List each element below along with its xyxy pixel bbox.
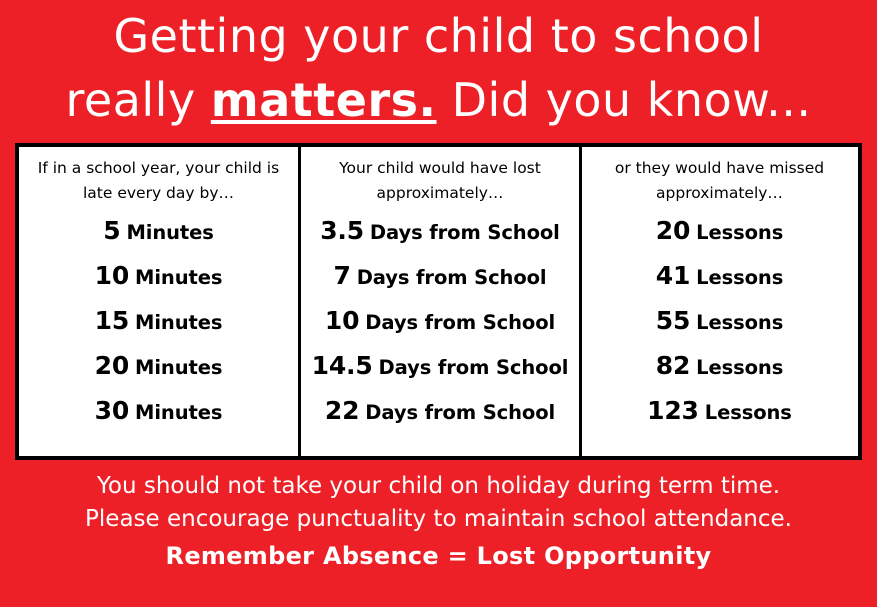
table-row: 3.5 Days from School — [301, 216, 579, 261]
cell-days-value: 10 — [325, 306, 359, 336]
attendance-table: If in a school year, your child is late … — [15, 143, 862, 460]
cell-minutes-unit: Minutes — [135, 263, 222, 293]
attendance-poster: Getting your child to school really matt… — [0, 0, 877, 607]
cell-lessons-value: 123 — [647, 396, 699, 426]
table-row: 20 Lessons — [582, 216, 857, 261]
cell-lessons-unit: Lessons — [696, 353, 783, 383]
cell-minutes-unit: Minutes — [126, 218, 213, 248]
table-row: 41 Lessons — [582, 261, 857, 306]
title-line-2-suffix: Did you know... — [437, 73, 812, 127]
poster-footer: You should not take your child on holida… — [0, 470, 877, 576]
cell-days-unit: Days from School — [365, 308, 555, 338]
column-header-minutes-late: If in a school year, your child is late … — [19, 147, 298, 206]
title-line-1: Getting your child to school — [0, 4, 877, 68]
table-row: 30 Minutes — [19, 396, 298, 441]
cell-days-unit: Days from School — [357, 263, 547, 293]
footer-line-holiday: You should not take your child on holida… — [0, 470, 877, 503]
column-body-minutes-late: 5 Minutes 10 Minutes 15 Minutes 20 Minut… — [19, 206, 298, 456]
table-column-lessons-missed: or they would have missed approximately…… — [582, 147, 857, 456]
footer-line-punctuality: Please encourage punctuality to maintain… — [0, 503, 877, 536]
table-row: 55 Lessons — [582, 306, 857, 351]
table-row: 10 Minutes — [19, 261, 298, 306]
cell-lessons-value: 41 — [656, 261, 690, 291]
table-column-minutes-late: If in a school year, your child is late … — [19, 147, 301, 456]
cell-lessons-unit: Lessons — [696, 263, 783, 293]
cell-days-value: 3.5 — [320, 216, 364, 246]
column-body-lessons-missed: 20 Lessons 41 Lessons 55 Lessons 82 Less… — [582, 206, 857, 456]
column-header-days-lost: Your child would have lost approximately… — [301, 147, 579, 206]
table-row: 20 Minutes — [19, 351, 298, 396]
column-body-days-lost: 3.5 Days from School 7 Days from School … — [301, 206, 579, 456]
table-row: 15 Minutes — [19, 306, 298, 351]
cell-lessons-value: 82 — [656, 351, 690, 381]
cell-minutes-value: 30 — [95, 396, 129, 426]
cell-minutes-unit: Minutes — [135, 398, 222, 428]
cell-minutes-unit: Minutes — [135, 353, 222, 383]
title-emphasis-matters: matters. — [211, 73, 437, 127]
cell-lessons-unit: Lessons — [705, 398, 792, 428]
table-row: 5 Minutes — [19, 216, 298, 261]
cell-minutes-value: 15 — [95, 306, 129, 336]
title-line-2-prefix: really — [66, 73, 211, 127]
cell-minutes-value: 10 — [95, 261, 129, 291]
table-row: 82 Lessons — [582, 351, 857, 396]
cell-days-unit: Days from School — [379, 353, 569, 383]
cell-minutes-unit: Minutes — [135, 308, 222, 338]
table-row: 14.5 Days from School — [301, 351, 579, 396]
cell-lessons-unit: Lessons — [696, 308, 783, 338]
cell-lessons-value: 55 — [656, 306, 690, 336]
cell-days-value: 14.5 — [312, 351, 373, 381]
table-row: 22 Days from School — [301, 396, 579, 441]
title-line-2: really matters. Did you know... — [0, 68, 877, 132]
footer-line-slogan: Remember Absence = Lost Opportunity — [0, 536, 877, 576]
cell-lessons-unit: Lessons — [696, 218, 783, 248]
table-row: 7 Days from School — [301, 261, 579, 306]
cell-days-value: 7 — [333, 261, 350, 291]
cell-days-value: 22 — [325, 396, 359, 426]
cell-days-unit: Days from School — [365, 398, 555, 428]
table-row: 10 Days from School — [301, 306, 579, 351]
cell-days-unit: Days from School — [370, 218, 560, 248]
column-header-lessons-missed: or they would have missed approximately… — [582, 147, 857, 206]
cell-minutes-value: 20 — [95, 351, 129, 381]
poster-title: Getting your child to school really matt… — [0, 4, 877, 132]
cell-minutes-value: 5 — [103, 216, 120, 246]
table-row: 123 Lessons — [582, 396, 857, 441]
cell-lessons-value: 20 — [656, 216, 690, 246]
table-column-days-lost: Your child would have lost approximately… — [301, 147, 582, 456]
